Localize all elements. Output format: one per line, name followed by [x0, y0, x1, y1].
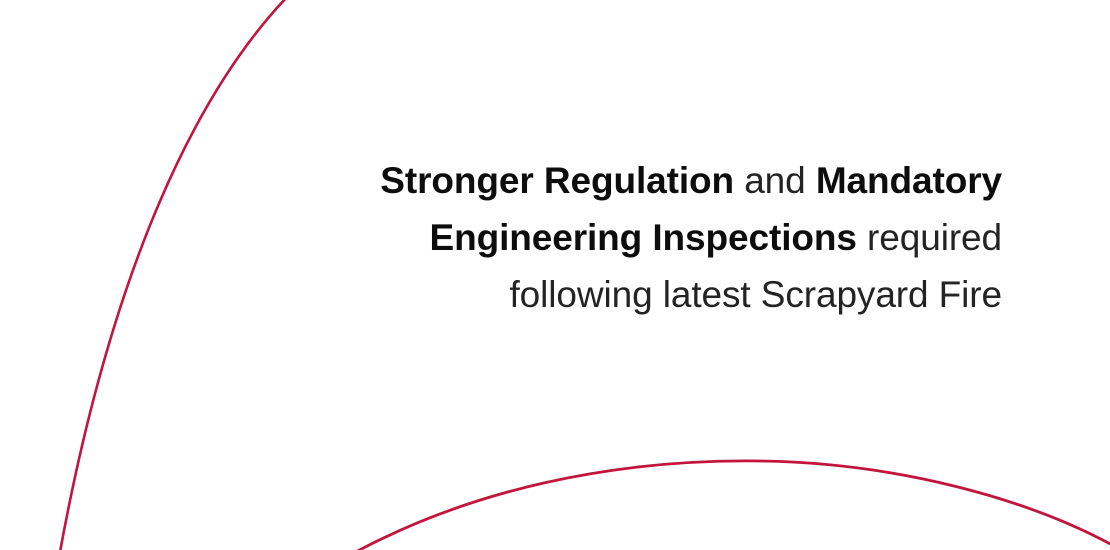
headline-segment-bold: Stronger Regulation — [380, 160, 734, 201]
headline-line-2: Engineering Inspections required — [0, 209, 1002, 266]
headline-segment-bold: Engineering Inspections — [429, 217, 856, 258]
slide-canvas: Stronger Regulation and Mandatory Engine… — [0, 0, 1110, 550]
headline-line-1: Stronger Regulation and Mandatory — [0, 152, 1002, 209]
lower-right-arc-icon — [352, 461, 1110, 550]
headline-segment-light: required — [857, 217, 1002, 258]
headline-line-3: following latest Scrapyard Fire — [0, 266, 1002, 323]
headline-segment-light: following latest Scrapyard Fire — [510, 274, 1003, 315]
headline-block: Stronger Regulation and Mandatory Engine… — [0, 152, 1002, 323]
headline-segment-bold: Mandatory — [816, 160, 1002, 201]
headline-segment-light: and — [734, 160, 816, 201]
